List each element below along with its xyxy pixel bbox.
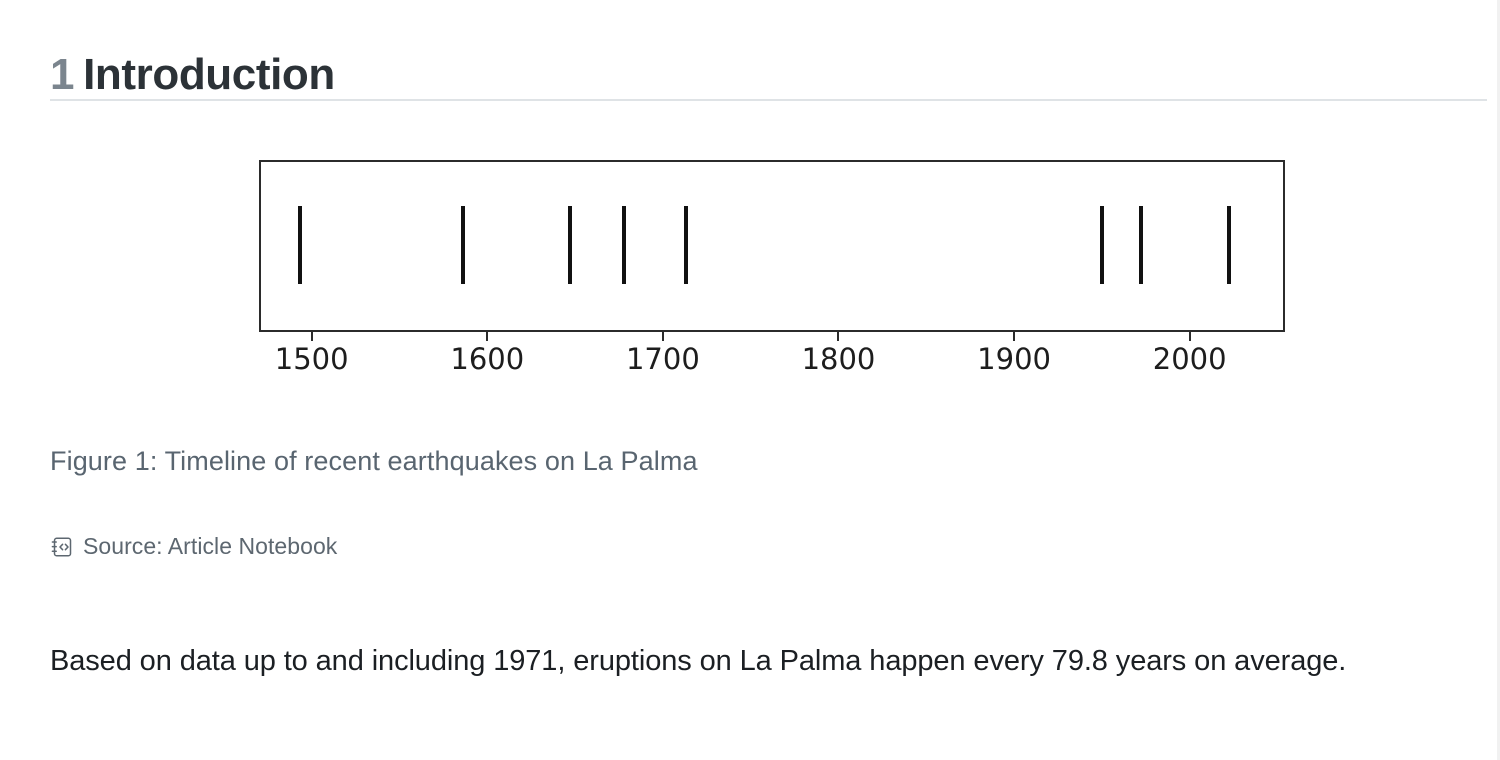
x-axis-tick (662, 330, 664, 341)
x-axis-ticks (259, 330, 1285, 342)
x-axis-tick-label: 1700 (626, 342, 700, 376)
source-notebook-link[interactable]: Source: Article Notebook (50, 533, 337, 560)
x-axis-tick (837, 330, 839, 341)
x-axis-tick (486, 330, 488, 341)
body-paragraph: Based on data up to and including 1971, … (50, 633, 1430, 689)
rug-mark (1227, 206, 1231, 284)
x-axis-tick-label: 1900 (977, 342, 1051, 376)
chart-plot-area (259, 160, 1285, 332)
x-axis-tick-label: 1600 (450, 342, 524, 376)
rug-marks-layer (261, 162, 1283, 330)
section-title-text: Introduction (83, 50, 335, 99)
x-axis-tick-label: 1800 (802, 342, 876, 376)
x-axis-tick-labels: 150016001700180019002000 (0, 342, 1500, 386)
heading-divider (50, 99, 1487, 101)
x-axis-tick-label: 1500 (275, 342, 349, 376)
rug-mark (1139, 206, 1143, 284)
notebook-code-icon (50, 535, 74, 559)
x-axis-tick (311, 330, 313, 341)
source-label: Source: Article Notebook (83, 533, 337, 560)
rug-mark (1100, 206, 1104, 284)
rug-mark (684, 206, 688, 284)
rug-mark (622, 206, 626, 284)
x-axis-tick (1013, 330, 1015, 341)
x-axis-tick-label: 2000 (1153, 342, 1227, 376)
rug-mark (298, 206, 302, 284)
rug-mark (461, 206, 465, 284)
figure-caption: Figure 1: Timeline of recent earthquakes… (50, 446, 698, 477)
section-number: 1 (50, 50, 74, 99)
page-title: 1Introduction (50, 49, 335, 101)
document-page: 1Introduction 150016001700180019002000 F… (0, 0, 1500, 760)
x-axis-tick (1189, 330, 1191, 341)
rug-mark (568, 206, 572, 284)
